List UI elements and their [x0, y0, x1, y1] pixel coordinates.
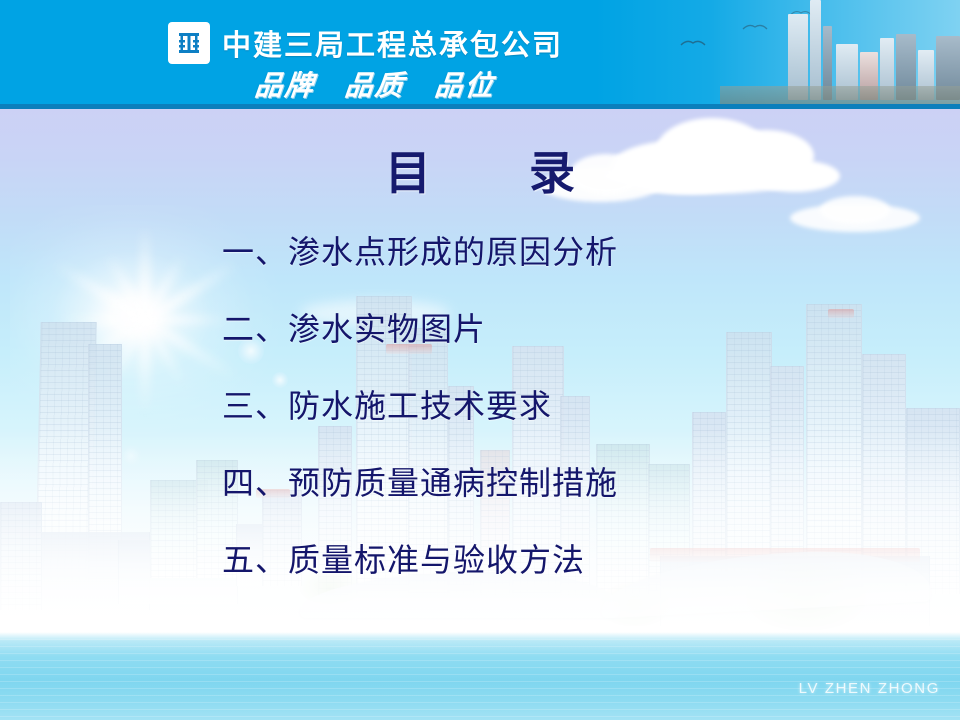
header-bottom-edge — [0, 104, 960, 109]
page-title: 目 录 — [0, 137, 960, 203]
toc-item-1[interactable]: 一、渗水点形成的原因分析 — [222, 236, 842, 268]
company-slogan: 品牌品质品位 — [255, 64, 495, 104]
bird-icon — [738, 22, 772, 31]
toc-list: 一、渗水点形成的原因分析 二、渗水实物图片 三、防水施工技术要求 四、预防质量通… — [222, 236, 842, 576]
toc-item-5[interactable]: 五、质量标准与验收方法 — [222, 544, 842, 576]
cscec-logo-icon — [168, 22, 210, 64]
water-foreground — [0, 632, 960, 720]
header-skyline-photo — [660, 0, 960, 108]
slogan-word-1: 品牌 — [253, 64, 317, 104]
watermark-text: LV ZHEN ZHONG — [799, 680, 940, 697]
slogan-word-3: 品位 — [433, 64, 497, 104]
company-logo-row: 中建三局工程总承包公司 — [168, 22, 563, 64]
slide-canvas: 中建三局工程总承包公司 品牌品质品位 目 录 一、渗水点形成的原因分析 二、渗水… — [0, 0, 960, 720]
company-name: 中建三局工程总承包公司 — [222, 22, 563, 64]
toc-item-3[interactable]: 三、防水施工技术要求 — [222, 390, 842, 422]
toc-item-2[interactable]: 二、渗水实物图片 — [222, 313, 842, 345]
bird-icon — [680, 38, 706, 47]
header-banner: 中建三局工程总承包公司 品牌品质品位 — [0, 0, 960, 108]
slogan-word-2: 品质 — [343, 64, 407, 104]
toc-item-4[interactable]: 四、预防质量通病控制措施 — [222, 467, 842, 499]
